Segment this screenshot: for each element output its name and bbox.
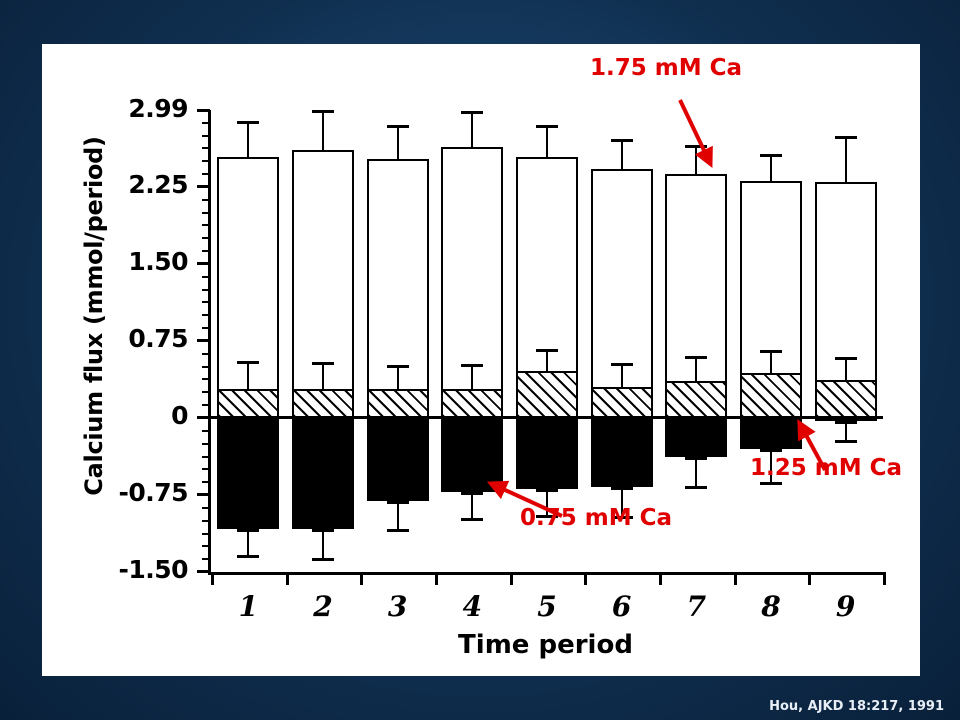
x-tick <box>734 572 737 585</box>
bar-solid-0-75mM <box>292 417 354 529</box>
errorbar-hatched-stem <box>845 357 847 380</box>
errorbar-solid-cap <box>387 501 409 504</box>
annotation-1-25-mM-ca: 1.25 mM Ca <box>750 455 902 481</box>
errorbar-hatched-cap <box>835 357 857 360</box>
bar-chart-plot: 2.992.251.500.750-0.75-1.50 Calcium flux… <box>42 44 920 676</box>
y-tick <box>197 493 210 496</box>
errorbar-solid-cap <box>536 489 558 492</box>
x-tick-label: 9 <box>826 590 866 623</box>
y-minor-tick <box>202 507 209 509</box>
errorbar-open-cap <box>536 125 558 128</box>
errorbar-open-cap <box>611 139 633 142</box>
errorbar-solid-cap <box>461 492 483 495</box>
y-minor-tick <box>202 456 209 458</box>
errorbar-hatched-cap <box>536 349 558 352</box>
bar-hatched-1-25mM <box>441 389 503 417</box>
y-tick <box>197 185 210 188</box>
x-tick <box>211 572 214 585</box>
y-minor-tick <box>202 314 209 316</box>
x-tick <box>286 572 289 585</box>
errorbar-open-stem <box>845 136 847 182</box>
errorbar-open-stem <box>397 125 399 159</box>
errorbar-hatched-stem <box>471 364 473 390</box>
slide-canvas: 2.992.251.500.750-0.75-1.50 Calcium flux… <box>0 0 960 720</box>
bar-hatched-1-25mM <box>740 373 802 417</box>
y-minor-tick <box>202 391 209 393</box>
errorbar-open-cap <box>685 145 707 148</box>
y-minor-tick <box>202 545 209 547</box>
zero-baseline <box>208 416 883 419</box>
errorbar-open-stem <box>247 121 249 157</box>
y-minor-tick <box>202 160 209 162</box>
bar-solid-0-75mM <box>217 417 279 529</box>
errorbar-open-stem <box>621 139 623 170</box>
y-minor-tick <box>202 353 209 355</box>
errorbar-open-cap <box>461 111 483 114</box>
y-minor-tick <box>202 212 209 214</box>
errorbar-solid-lower-cap <box>760 482 782 485</box>
bar-hatched-1-25mM <box>591 387 653 417</box>
bar-solid-0-75mM <box>367 417 429 501</box>
errorbar-solid-lower-cap <box>461 518 483 521</box>
x-axis-title: Time period <box>208 630 883 660</box>
y-minor-tick <box>202 199 209 201</box>
y-minor-tick <box>202 533 209 535</box>
errorbar-solid-stem <box>695 457 697 486</box>
y-minor-tick <box>202 173 209 175</box>
errorbar-solid-cap <box>835 421 857 424</box>
errorbar-hatched-cap <box>611 363 633 366</box>
x-tick-label: 8 <box>751 590 791 623</box>
annotation-0-75-mM-ca: 0.75 mM Ca <box>520 505 672 531</box>
errorbar-hatched-cap <box>387 365 409 368</box>
x-tick-label: 2 <box>303 590 343 623</box>
errorbar-open-stem <box>471 111 473 147</box>
x-tick <box>883 572 886 585</box>
x-tick <box>360 572 363 585</box>
errorbar-hatched-cap <box>237 361 259 364</box>
bar-hatched-1-25mM <box>367 389 429 417</box>
errorbar-open-stem <box>695 145 697 174</box>
y-minor-tick <box>202 327 209 329</box>
errorbar-open-cap <box>312 110 334 113</box>
y-minor-tick <box>202 443 209 445</box>
x-tick-label: 1 <box>228 590 268 623</box>
errorbar-solid-cap <box>312 529 334 532</box>
bar-solid-0-75mM <box>516 417 578 489</box>
errorbar-hatched-stem <box>247 361 249 390</box>
bar-solid-0-75mM <box>665 417 727 457</box>
errorbar-hatched-cap <box>685 356 707 359</box>
errorbar-solid-cap <box>760 449 782 452</box>
errorbar-open-cap <box>760 154 782 157</box>
errorbar-hatched-cap <box>461 364 483 367</box>
errorbar-solid-lower-cap <box>685 486 707 489</box>
y-minor-tick <box>202 276 209 278</box>
bar-solid-0-75mM <box>591 417 653 487</box>
bar-solid-0-75mM <box>740 417 802 449</box>
y-minor-tick <box>202 224 209 226</box>
x-tick-label: 6 <box>602 590 642 623</box>
bar-hatched-1-25mM <box>292 389 354 417</box>
bar-solid-0-75mM <box>441 417 503 492</box>
x-tick-label: 7 <box>676 590 716 623</box>
y-minor-tick <box>202 558 209 560</box>
y-minor-tick <box>202 301 209 303</box>
errorbar-open-cap <box>387 125 409 128</box>
errorbar-solid-cap <box>611 487 633 490</box>
x-tick <box>510 572 513 585</box>
annotation-1-75-mM-ca: 1.75 mM Ca <box>590 55 742 81</box>
errorbar-open-cap <box>835 136 857 139</box>
y-minor-tick <box>202 289 209 291</box>
x-axis-spine <box>208 572 883 575</box>
errorbar-hatched-stem <box>397 365 399 390</box>
x-tick-label: 4 <box>452 590 492 623</box>
x-tick <box>435 572 438 585</box>
errorbar-solid-lower-cap <box>387 529 409 532</box>
bar-hatched-1-25mM <box>217 389 279 417</box>
x-tick <box>808 572 811 585</box>
y-tick-label: -1.50 <box>84 555 188 584</box>
y-minor-tick <box>202 147 209 149</box>
errorbar-solid-cap <box>685 457 707 460</box>
y-axis-spine <box>208 110 211 574</box>
errorbar-hatched-cap <box>760 350 782 353</box>
y-minor-tick <box>202 481 209 483</box>
bar-hatched-1-25mM <box>516 371 578 417</box>
errorbar-open-stem <box>322 110 324 150</box>
x-tick-label: 5 <box>527 590 567 623</box>
errorbar-solid-stem <box>397 501 399 529</box>
y-minor-tick <box>202 430 209 432</box>
y-minor-tick <box>202 378 209 380</box>
citation-text: Hou, AJKD 18:217, 1991 <box>769 699 944 714</box>
errorbar-hatched-stem <box>322 362 324 390</box>
y-minor-tick <box>202 404 209 406</box>
x-tick <box>584 572 587 585</box>
bar-hatched-1-25mM <box>665 381 727 417</box>
y-minor-tick <box>202 135 209 137</box>
errorbar-hatched-stem <box>770 350 772 373</box>
y-minor-tick <box>202 366 209 368</box>
errorbar-solid-lower-cap <box>237 555 259 558</box>
errorbar-open-stem <box>770 154 772 181</box>
errorbar-solid-stem <box>247 529 249 555</box>
x-tick <box>659 572 662 585</box>
errorbar-open-stem <box>546 125 548 157</box>
y-minor-tick <box>202 122 209 124</box>
errorbar-hatched-stem <box>546 349 548 371</box>
y-axis-title: Calcium flux (mmol/period) <box>80 116 108 516</box>
y-minor-tick <box>202 468 209 470</box>
errorbar-hatched-stem <box>695 356 697 381</box>
errorbar-solid-lower-cap <box>835 440 857 443</box>
y-tick <box>197 262 210 265</box>
errorbar-solid-stem <box>322 529 324 558</box>
figure-panel: 2.992.251.500.750-0.75-1.50 Calcium flux… <box>42 44 920 676</box>
errorbar-open-cap <box>237 121 259 124</box>
errorbar-solid-cap <box>237 529 259 532</box>
errorbar-solid-stem <box>471 492 473 518</box>
y-minor-tick <box>202 237 209 239</box>
y-minor-tick <box>202 250 209 252</box>
y-tick <box>197 339 210 342</box>
y-minor-tick <box>202 520 209 522</box>
bar-hatched-1-25mM <box>815 380 877 417</box>
errorbar-solid-lower-cap <box>312 558 334 561</box>
errorbar-hatched-stem <box>621 363 623 388</box>
errorbar-hatched-cap <box>312 362 334 365</box>
x-tick-label: 3 <box>378 590 418 623</box>
y-tick <box>197 109 210 112</box>
